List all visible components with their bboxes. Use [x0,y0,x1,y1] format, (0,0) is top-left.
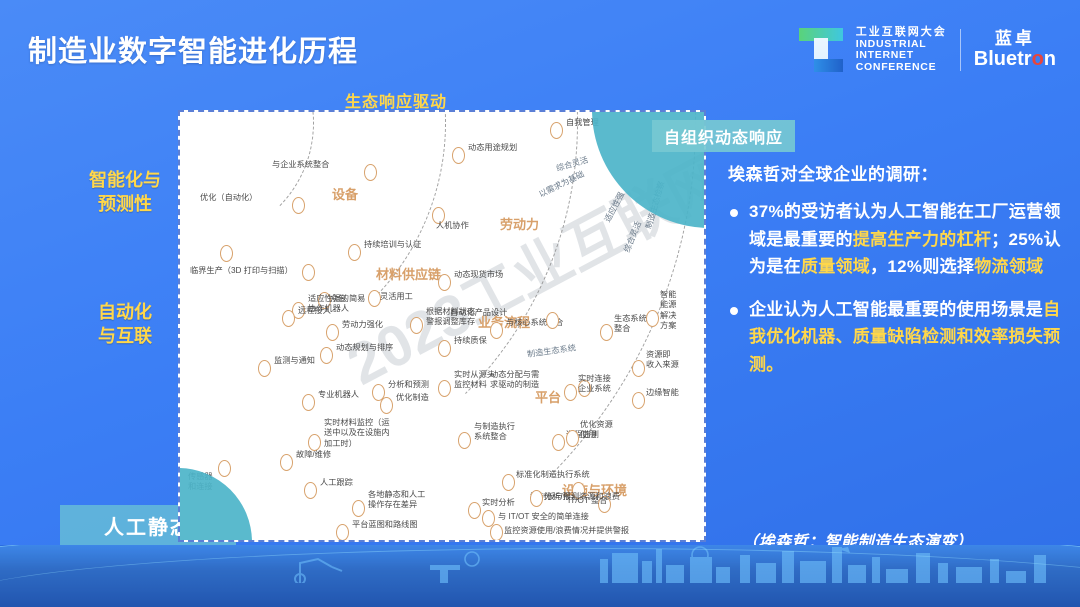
diagram-node [282,310,295,327]
diagram-node-label: 智能 能源 解决 方案 [660,290,676,331]
logo-divider [960,29,961,71]
diagram-node [320,347,333,364]
conference-logo-icon [799,28,843,72]
diagram-node [458,432,471,449]
diagram-node [546,312,559,329]
diagram-node-label: 动态规划与排序 [336,343,393,353]
diagram-node [410,317,423,334]
diagram-node-label: 持续质保 [454,336,487,346]
diagram-node [490,524,503,541]
diagram-node-label: 与 IT/OT 安全的简单连接 [498,512,589,522]
brand-en-part-a: Bluetr [974,48,1032,70]
diagram-node-label: 人工跟踪 [320,478,353,488]
diagram-node [632,360,645,377]
diagram-node [502,474,515,491]
diagram-node-label: 实时从源头 监控材料 [454,370,495,391]
diagram-node [564,384,577,401]
diagram-node-label: 优化（自动化） [200,193,257,203]
diagram-node [600,324,613,341]
diagram-node [302,394,315,411]
diagram-node-label: 平台蓝图和路线图 [352,520,418,530]
logo-english-line3: CONFERENCE [856,62,947,73]
diagram-node-label: 实时分析 [482,498,515,508]
diagram-node-label: 与制造执行 系统整合 [474,422,515,443]
diagram-node [348,244,361,261]
diagram-node-label: 灵活用工 [380,292,413,302]
diagram-node [326,324,339,341]
diagram-node-label: 远程接入 [298,306,331,316]
diagram-node-label: 实时材料监控（运 送中以及在设施内 加工时） [324,418,390,449]
diagram-node-label: 动态现货市场 [454,270,503,280]
diagram-node-label: 自动化产品设计 [450,308,507,318]
bluetron-brand: 蓝卓 Bluetron [974,30,1056,71]
diagram-node-label: 优化资源 使用 [580,420,613,441]
diagram-node [336,524,349,541]
diagram-node-label: 实时连接 企业系统 [578,374,611,395]
diagram-node-label: 人机协作 [436,221,469,231]
eco-response-driver-caption: 生态响应驱动 [345,88,447,112]
diagram-node-label: 监控资源使用/浪费情况并提供警报 [504,526,629,536]
insight-highlight: 物流领域 [974,257,1043,276]
insight-text: 企业认为人工智能最重要的使用场景是 [749,300,1043,319]
diagram-node-label: 优化制造 [396,393,429,403]
conference-logo: 工业互联网大会 INDUSTRIAL INTERNET CONFERENCE 蓝… [799,22,1056,78]
diagram-node-label: 资源即 收入来源 [646,350,679,371]
diagram-node-label: 分析和预测 [388,380,429,390]
diagram-node [220,245,233,262]
page-title: 制造业数字智能进化历程 [28,28,358,70]
diagram-node-label: 故障/维修 [296,450,331,460]
diagram-node [302,264,315,281]
diagram-section-label: 材料供应链 [376,264,441,283]
diagram-node-label: 临界生产（3D 打印与扫描） [190,266,293,276]
diagram-node-label: 边缘智能 [646,388,679,398]
diagram-node-label: 标准化制造执行系统 [516,470,590,480]
diagram-node [438,340,451,357]
diagram-node [304,482,317,499]
insight-bullet-list: 37%的受访者认为人工智能在工厂运营领域是最重要的提高生产力的杠杆；25%认为是… [728,198,1064,378]
diagram-node-label: 动态用途规划 [468,143,517,153]
insight-bullet: 37%的受访者认为人工智能在工厂运营领域是最重要的提高生产力的杠杆；25%认为是… [728,198,1064,281]
insight-text: ，12%则选择 [870,257,974,276]
diagram-node [566,430,579,447]
brand-en-part-b: n [1044,48,1056,70]
diagram-node-label: 持续培训与认证 [364,240,421,250]
diagram-node [438,380,451,397]
insight-highlight: 质量领域 [801,257,870,276]
diagram-node-label: 生态系统 整合 [614,314,647,335]
diagram-node [580,540,593,542]
brand-english-name: Bluetron [974,48,1056,70]
diagram-node [292,197,305,214]
maturity-level-intelligent: 智能化与预测性 [60,168,190,217]
diagram-section-label: 劳动力 [500,214,539,233]
diagram-section-label: 设备 [332,184,358,203]
diagram-node-label: 分析和预测 [178,241,179,251]
diagram-node-label: 与企业系统整合 [272,160,329,170]
maturity-level-automation: 自动化与互联 [60,300,190,349]
diagram-node [452,147,465,164]
diagram-node-label: 分析/预测资源和浪费 [544,492,620,502]
diagram-node [438,274,451,291]
diagram-node [280,454,293,471]
diagram-node [550,122,563,139]
brand-en-dot: o [1032,48,1044,70]
diagram-node [490,322,503,339]
footer-skyline-band [0,545,1080,607]
maturity-diagram: 2023工业互联网大会 设备劳动力材料供应链业务流程平台设施与环境 优化（自动化… [178,110,706,542]
diagram-node [364,164,377,181]
diagram-node [468,502,481,519]
insight-intro: 埃森哲对全球企业的调研： [728,160,1064,185]
diagram-node-label: 专业机器人 [318,390,359,400]
self-organizing-badge: 自组织动态响应 [652,120,795,152]
insight-highlight: 提高生产力的杠杆 [853,230,991,249]
brand-chinese-name: 蓝卓 [974,30,1056,49]
diagram-node [218,460,231,477]
conference-logo-text: 工业互联网大会 INDUSTRIAL INTERNET CONFERENCE [856,27,947,73]
insight-panel: 埃森哲对全球企业的调研： 37%的受访者认为人工智能在工厂运营领域是最重要的提高… [728,160,1064,393]
diagram-node-label: 监测与通知 [274,356,315,366]
diagram-node [530,490,543,507]
diagram-node-label: 各地静态和人工 操作存在差异 [368,490,425,511]
logo-english-line2: INTERNET [856,50,947,61]
diagram-node [380,397,393,414]
diagram-node [308,434,321,451]
insight-bullet: 企业认为人工智能最重要的使用场景是自我优化机器、质量缺陷检测和效率损失预测。 [728,296,1064,379]
diagram-node [258,360,271,377]
diagram-node [552,434,565,451]
diagram-node-label: 劳动力强化 [342,320,383,330]
diagram-node [632,392,645,409]
diagram-node-label: 动态分配与需 求驱动的制造 [490,370,539,391]
diagram-node [646,310,659,327]
diagram-node [352,500,365,517]
